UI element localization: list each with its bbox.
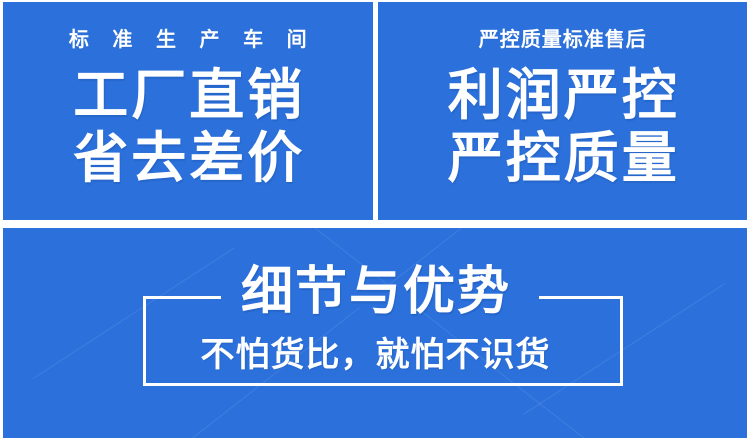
top-panel-row: 标 准 生 产 车 间 工厂直销 省去差价 严控质量标准售后 利润严控 严控质量 (0, 2, 750, 220)
panel-factory-direct: 标 准 生 产 车 间 工厂直销 省去差价 (3, 2, 373, 220)
panel-quality-control-headline-line2: 严控质量 (445, 129, 680, 188)
promo-banner: 标 准 生 产 车 间 工厂直销 省去差价 严控质量标准售后 利润严控 严控质量… (0, 0, 750, 440)
details-advantages-title: 细节与优势 (3, 266, 747, 318)
panel-quality-control: 严控质量标准售后 利润严控 严控质量 (378, 2, 748, 220)
panel-factory-direct-eyebrow: 标 准 生 产 车 间 (60, 30, 316, 50)
panel-factory-direct-headline-line1: 工厂直销 (70, 66, 305, 125)
panel-factory-direct-headline-line2: 省去差价 (70, 129, 305, 188)
panel-quality-control-headline-line1: 利润严控 (445, 66, 680, 125)
details-advantages-subtitle: 不怕货比，就怕不识货 (3, 338, 747, 372)
panel-details-advantages: 细节与优势 不怕货比，就怕不识货 (3, 228, 747, 438)
panel-quality-control-eyebrow: 严控质量标准售后 (478, 30, 647, 50)
